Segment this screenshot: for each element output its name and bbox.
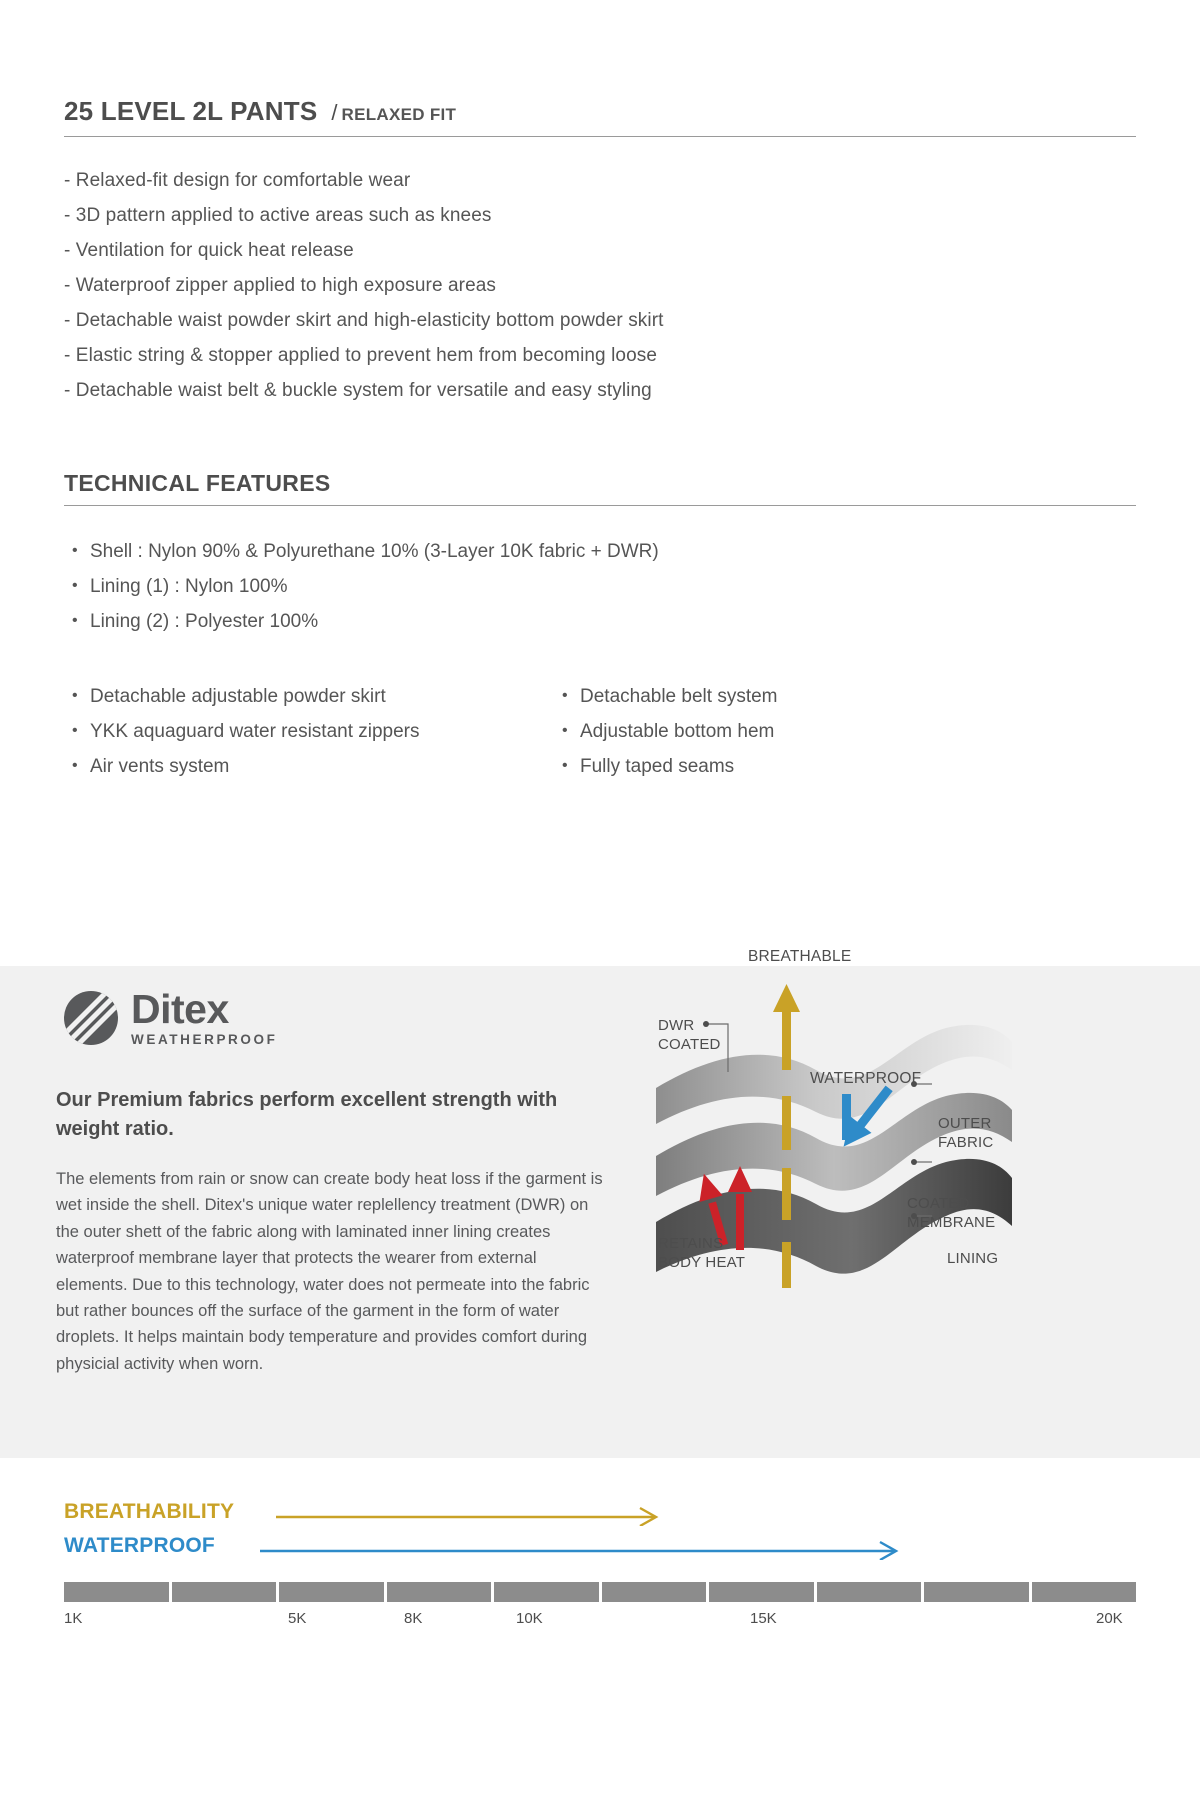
scale-bar — [64, 1582, 1136, 1602]
label-outer-line1: OUTER — [938, 1114, 993, 1133]
leader-dot-membrane — [911, 1159, 917, 1165]
label-outer-fabric: OUTER FABRIC — [938, 1114, 993, 1152]
scale-segment — [64, 1582, 169, 1602]
label-membrane-line2: MEMBRANE — [907, 1213, 995, 1232]
scale-segment — [709, 1582, 814, 1602]
title-subtitle: RELAXED FIT — [342, 105, 457, 125]
list-item: - Elastic string & stopper applied to pr… — [64, 338, 1136, 373]
list-item: Lining (1) : Nylon 100% — [72, 569, 1136, 604]
scale-segment — [387, 1582, 492, 1602]
list-item: - Ventilation for quick heat release — [64, 233, 1136, 268]
list-item: Adjustable bottom hem — [562, 714, 778, 749]
product-spec-page: 25 LEVEL 2L PANTS / RELAXED FIT - Relaxe… — [0, 0, 1200, 1800]
tick-label: 10K — [516, 1610, 543, 1627]
fabric-layer-diagram: BREATHABLE DWR COATED WATERPROOF OUTER F… — [620, 966, 1200, 1458]
tick-label: 15K — [750, 1610, 777, 1627]
title-main: 25 LEVEL 2L PANTS — [64, 96, 317, 127]
label-retains-line2: BODY HEAT — [658, 1253, 745, 1272]
brand-lead-text: Our Premium fabrics perform excellent st… — [56, 1086, 596, 1144]
label-coated-membrane: COATED MEMBRANE — [907, 1194, 995, 1232]
label-dwr-coated: DWR COATED — [658, 1016, 721, 1054]
technical-column-left: Detachable adjustable powder skirt YKK a… — [72, 679, 562, 784]
brand-tagline: WEATHERPROOF — [131, 1032, 277, 1047]
scale-segment — [494, 1582, 599, 1602]
ditex-mark-icon — [64, 991, 118, 1045]
tick-label: 8K — [404, 1610, 422, 1627]
scale-segment — [924, 1582, 1029, 1602]
list-item: Detachable adjustable powder skirt — [72, 679, 562, 714]
label-membrane-line1: COATED — [907, 1194, 995, 1213]
label-waterproof: WATERPROOF — [810, 1069, 921, 1088]
breathability-arrow-svg — [64, 1500, 1144, 1526]
materials-list: Shell : Nylon 90% & Polyurethane 10% (3-… — [72, 534, 1136, 639]
list-item: - Waterproof zipper applied to high expo… — [64, 268, 1136, 303]
list-item: - 3D pattern applied to active areas suc… — [64, 198, 1136, 233]
scale-segment — [817, 1582, 922, 1602]
list-item: YKK aquaguard water resistant zippers — [72, 714, 562, 749]
ditex-logo: Ditex WEATHERPROOF — [64, 990, 277, 1047]
list-item: - Detachable waist powder skirt and high… — [64, 303, 1136, 338]
list-item: Detachable belt system — [562, 679, 778, 714]
tick-label: 5K — [288, 1610, 306, 1627]
title-separator: / — [331, 100, 337, 126]
brand-panel: Ditex WEATHERPROOF Our Premium fabrics p… — [0, 966, 1200, 1458]
label-breathable: BREATHABLE — [748, 947, 851, 966]
label-retains-line1: RETAINS — [658, 1234, 745, 1253]
brand-name: Ditex — [131, 990, 277, 1029]
scale-segment — [602, 1582, 707, 1602]
list-item: - Relaxed-fit design for comfortable wea… — [64, 163, 1136, 198]
list-item: Lining (2) : Polyester 100% — [72, 604, 1136, 639]
list-item: - Detachable waist belt & buckle system … — [64, 373, 1136, 408]
waterproof-arrow-svg — [64, 1534, 1144, 1560]
breathability-row: BREATHABILITY — [64, 1500, 1200, 1530]
tick-label: 1K — [64, 1610, 82, 1627]
top-section: 25 LEVEL 2L PANTS / RELAXED FIT - Relaxe… — [0, 0, 1200, 784]
list-item: Air vents system — [72, 749, 562, 784]
label-dwr-line2: COATED — [658, 1035, 721, 1054]
section-heading: TECHNICAL FEATURES — [64, 470, 331, 496]
label-retains-body-heat: RETAINS BODY HEAT — [658, 1234, 745, 1272]
technical-columns: Detachable adjustable powder skirt YKK a… — [72, 679, 1136, 784]
label-outer-line2: FABRIC — [938, 1133, 993, 1152]
performance-scale: BREATHABILITY WATERPROOF — [0, 1500, 1200, 1628]
tick-label: 20K — [1096, 1610, 1123, 1627]
scale-segment — [279, 1582, 384, 1602]
waterproof-row: WATERPROOF — [64, 1534, 1200, 1564]
scale-ticks: 1K 5K 8K 10K 15K 20K — [64, 1602, 1136, 1628]
label-lining: LINING — [947, 1249, 998, 1268]
technical-features-header: TECHNICAL FEATURES — [64, 470, 1136, 506]
brand-body-text: The elements from rain or snow can creat… — [56, 1166, 608, 1377]
list-item: Shell : Nylon 90% & Polyurethane 10% (3-… — [72, 534, 1136, 569]
technical-column-right: Detachable belt system Adjustable bottom… — [562, 679, 778, 784]
scale-segment — [1032, 1582, 1137, 1602]
list-item: Fully taped seams — [562, 749, 778, 784]
label-dwr-line1: DWR — [658, 1016, 721, 1035]
page-title: 25 LEVEL 2L PANTS / RELAXED FIT — [64, 0, 1136, 137]
scale-segment — [172, 1582, 277, 1602]
feature-list: - Relaxed-fit design for comfortable wea… — [64, 163, 1136, 408]
